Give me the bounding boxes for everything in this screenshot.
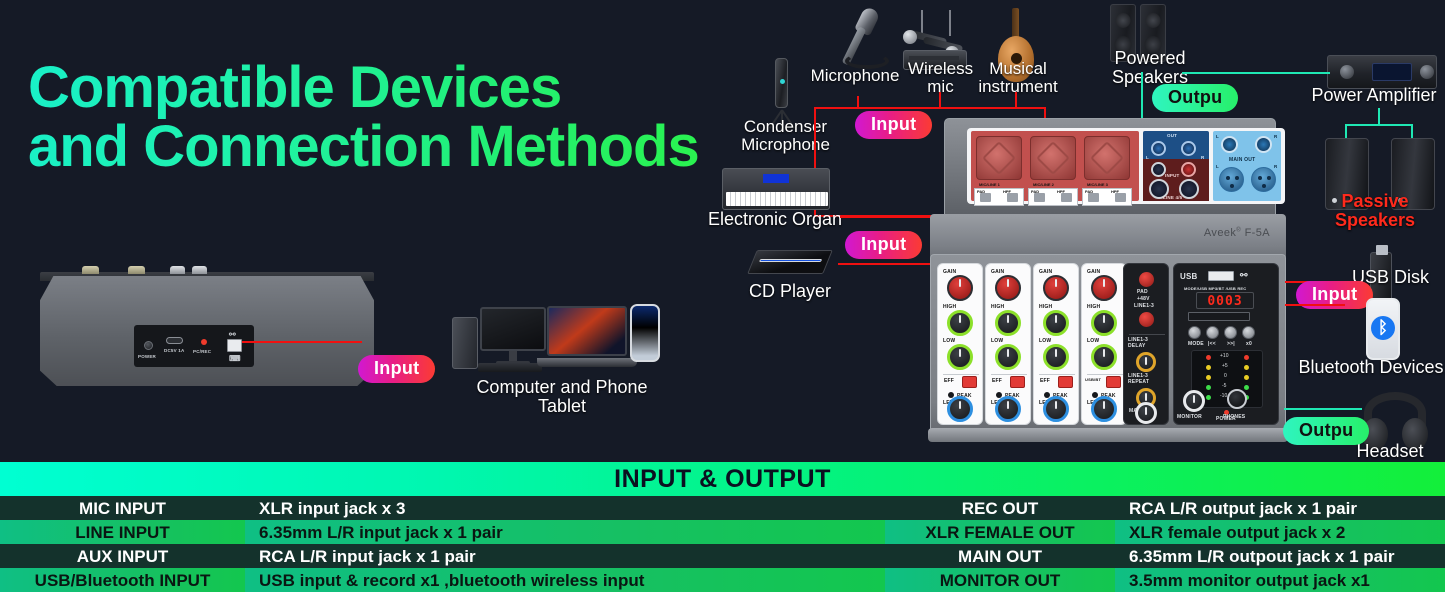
high-label-2: HIGH [991, 304, 1004, 310]
high-eq-knob-3[interactable] [1043, 310, 1069, 336]
pc-tower [452, 317, 478, 369]
low-label-2: LOW [991, 338, 1003, 344]
usb-lcd-display: 0003 [1196, 292, 1254, 309]
badge-input-top: Input [855, 111, 932, 139]
aux-io-group: OUT L R INPUT LINE 4/5 [1143, 131, 1209, 201]
row-2-out-val: 6.35mm L/R outpout jack x 1 pair [1115, 544, 1445, 568]
main-out-group: L R MAIN OUT L R [1213, 131, 1281, 201]
power-amplifier-label: Power Amplifier [1306, 86, 1442, 105]
meter-led-l-minus10 [1206, 395, 1211, 400]
low-eq-knob-4[interactable] [1091, 344, 1117, 370]
divider-4 [1087, 374, 1123, 375]
xlr-r-label: R [1274, 164, 1277, 169]
badge-input-line: Input [845, 231, 922, 259]
channel-strip-2: GAIN HIGH LOW EFF PEAK LEVEL [985, 263, 1031, 425]
condenser-mic-led [780, 79, 785, 84]
brand-name: Aveek [1204, 227, 1236, 239]
dc-power-port[interactable] [166, 337, 183, 344]
meter-led-l-plus10 [1206, 355, 1211, 360]
mode-button[interactable] [1188, 326, 1201, 339]
hpf-label-2: HPF [1057, 189, 1065, 194]
delay-knob[interactable] [1136, 352, 1156, 372]
connector-bluetooth [1285, 304, 1345, 306]
meter-led-r-minus5 [1244, 385, 1249, 390]
rec-out-jack-l[interactable] [1151, 141, 1166, 156]
table-body: MIC INPUT XLR input jack x 3 REC OUT RCA… [0, 496, 1445, 592]
out-label: OUT [1167, 133, 1177, 138]
row-3-out-key: MONITOR OUT [885, 568, 1115, 592]
connector-headset [1284, 408, 1362, 410]
meter-led-l-minus5 [1206, 385, 1211, 390]
meter-led-r-plus10 [1244, 355, 1249, 360]
amp-knob-right [1420, 65, 1434, 79]
pad-label-2: PAD [1031, 189, 1039, 194]
pad-phantom-label: PAD [1137, 289, 1148, 295]
phantom-led [1139, 272, 1154, 287]
meter-label-minus5: -5 [1222, 383, 1226, 389]
cd-player-label: CD Player [742, 282, 838, 301]
mixer-rear-panel: MIC/LINE 1 MIC/LINE 2 MIC/LINE 3 [967, 128, 1285, 204]
meter-label-zero: 0 [1224, 373, 1227, 379]
connector-line-rear-usb [242, 341, 362, 343]
mode-strip-label: MODE/USB MP3/BT /USB REC [1184, 286, 1246, 291]
meter-led-l-zero [1206, 375, 1211, 380]
xlr-combo-jack-3[interactable] [1084, 136, 1130, 180]
brand-mark: Aveek® F-5A [1204, 227, 1270, 239]
low-label-3: LOW [1039, 338, 1051, 344]
line45-label: LINE 4/5 [1163, 195, 1182, 200]
usb-bt-switch[interactable] [1106, 376, 1121, 388]
play-btn-label: x0 [1246, 341, 1252, 347]
gain-knob-4[interactable] [1091, 275, 1117, 301]
input-label: INPUT [1165, 173, 1180, 178]
next-btn-label: >>| [1227, 341, 1235, 347]
row-1-out-val: XLR female output jack x 2 [1115, 520, 1445, 544]
next-button[interactable] [1224, 326, 1237, 339]
xlr-female-out-r[interactable] [1251, 167, 1276, 192]
passive-speakers-label: Passive Speakers [1300, 192, 1445, 231]
mixer-rear-view-illustration: POWER DC5V 1A PC/REC ⚯ ⌨ [28, 262, 388, 394]
level-knob-2[interactable] [995, 396, 1021, 422]
monitor-knob[interactable] [1183, 390, 1205, 412]
badge-output-headset: Outpu [1283, 417, 1369, 445]
eff-switch-3[interactable] [1058, 376, 1073, 388]
mixer-rear-section: MIC/LINE 1 MIC/LINE 2 MIC/LINE 3 [944, 118, 1276, 218]
mixer-control-surface: GAIN HIGH LOW EFF PEAK LEVEL GAIN HIGH [930, 254, 1286, 440]
power-label: POWER [138, 354, 156, 359]
hpf-label-1: HPF [1003, 189, 1011, 194]
condenser-mic-body [775, 58, 788, 108]
mixer-front-foot [928, 428, 1288, 442]
mic-line-3-label: MIC/LINE 3 [1087, 182, 1108, 187]
low-eq-knob-3[interactable] [1043, 344, 1069, 370]
meter-led-r-zero [1244, 375, 1249, 380]
row-2-out-key: MAIN OUT [885, 544, 1115, 568]
model-name: F-5A [1245, 227, 1270, 239]
media-button-row [1188, 326, 1255, 339]
bluetooth-icon: ᛒ [1371, 316, 1395, 340]
gain-label-4: GAIN [1087, 269, 1100, 275]
repeat-label: LINE1-3 REPEAT [1128, 374, 1149, 385]
gain-label-2: GAIN [991, 269, 1004, 275]
amp-knob-left [1340, 65, 1354, 79]
usb-drive-connector [1376, 245, 1388, 255]
pad-switch-1[interactable] [980, 193, 991, 202]
phantom-voltage-label: +48V [1137, 296, 1150, 302]
mic-line-1-label: MIC/LINE 1 [979, 182, 1000, 187]
connector-amp-line [1182, 72, 1330, 74]
laptop-screen [547, 306, 627, 356]
monitor-knob-label: MONITOR [1177, 414, 1202, 420]
headset-label: Headset [1340, 442, 1440, 461]
pad-label-3: PAD [1085, 189, 1093, 194]
rear-jack-2 [128, 266, 145, 274]
eff-label-2: EFF [992, 378, 1002, 384]
divider-2 [991, 374, 1027, 375]
level-knob-3[interactable] [1043, 396, 1069, 422]
eff-switch-1[interactable] [962, 376, 977, 388]
infographic-canvas: Compatible Devices and Connection Method… [0, 0, 1445, 592]
usb-logo-strip [1188, 312, 1250, 321]
pad-label-1: PAD [977, 189, 985, 194]
badge-output-speakers: Outpu [1152, 84, 1238, 112]
musical-instrument-label: Musical instrument [970, 60, 1066, 97]
usb-icon: ⚯ [229, 330, 236, 339]
io-spec-table: INPUT & OUTPUT MIC INPUT XLR input jack … [0, 462, 1445, 592]
organ-display [763, 174, 789, 183]
high-label-4: HIGH [1087, 304, 1100, 310]
main-knob[interactable] [1135, 402, 1157, 424]
connector-bus-top-inputs [814, 107, 1046, 109]
channel-strip-4: GAIN HIGH LOW USB/BT PEAK LEVEL [1081, 263, 1127, 425]
cd-player [747, 250, 833, 274]
phones-jack-label: PHONES [1223, 414, 1245, 420]
aux-input-jack-r[interactable] [1181, 162, 1196, 177]
rec-label: PC/REC [193, 349, 211, 354]
laptop-base [537, 358, 637, 367]
antenna-right [949, 10, 951, 36]
channel-strip-3: GAIN HIGH LOW EFF PEAK LEVEL [1033, 263, 1079, 425]
delay-label: LINE1-3 DELAY [1128, 338, 1148, 349]
phones-jack[interactable] [1227, 389, 1247, 409]
low-label-4: LOW [1087, 338, 1099, 344]
usb-connector-icon: ⚯ [1240, 270, 1248, 281]
pad-switch-3[interactable] [1088, 193, 1099, 202]
eff-label-3: EFF [1040, 378, 1050, 384]
line13-label: LINE1-3 [1134, 303, 1154, 309]
eff-switch-2[interactable] [1010, 376, 1025, 388]
phantom-button[interactable] [1139, 312, 1154, 327]
powered-speakers-label: Powered Speakers [1080, 49, 1220, 88]
connector-amp-split [1345, 124, 1413, 126]
cd-player-strip [759, 259, 822, 262]
badge-input-computer: Input [358, 355, 435, 383]
electronic-organ [722, 168, 830, 210]
row-3-out-val: 3.5mm monitor output jack x1 [1115, 568, 1445, 592]
meter-label-plus5: +5 [1222, 363, 1228, 369]
row-0-in-val: XLR input jack x 3 [245, 496, 885, 520]
main-l-label: L [1216, 134, 1219, 139]
xlr-combo-jack-1[interactable] [976, 136, 1022, 180]
xlr-female-out-l[interactable] [1219, 167, 1244, 192]
low-eq-knob-1[interactable] [947, 344, 973, 370]
eff-label-1: EFF [944, 378, 954, 384]
xlr-combo-jack-2[interactable] [1030, 136, 1076, 180]
row-1-in-val: 6.35mm L/R input jack x 1 pair [245, 520, 885, 544]
play-button[interactable] [1242, 326, 1255, 339]
mic-line-xlr-group: MIC/LINE 1 MIC/LINE 2 MIC/LINE 3 [971, 131, 1139, 201]
bluetooth-phone: ᛒ [1366, 298, 1400, 360]
high-eq-knob-1[interactable] [947, 310, 973, 336]
rear-jack-3 [170, 266, 185, 274]
high-label-3: HIGH [1039, 304, 1052, 310]
xlr-l-label: L [1216, 164, 1219, 169]
hpf-switch-1[interactable] [1007, 193, 1018, 202]
main-out-trs-r[interactable] [1255, 136, 1272, 153]
gain-label-1: GAIN [943, 269, 956, 275]
row-2-in-key: AUX INPUT [0, 544, 245, 568]
microphone-label: Microphone [800, 67, 910, 85]
electronic-organ-label: Electronic Organ [706, 210, 844, 229]
usb-divider [1129, 334, 1165, 335]
rec-led [201, 339, 207, 345]
connector-stub-instrument [1015, 92, 1017, 108]
mode-btn-label: MODE [1188, 341, 1204, 347]
rec-out-jack-r[interactable] [1181, 141, 1196, 156]
prev-button[interactable] [1206, 326, 1219, 339]
high-label-1: HIGH [943, 304, 956, 310]
main-out-trs-l[interactable] [1221, 136, 1238, 153]
row-2-in-val: RCA L/R input jack x 1 pair [245, 544, 885, 568]
mic-line-2-label: MIC/LINE 2 [1033, 182, 1054, 187]
brand-registered: ® [1236, 227, 1241, 233]
gain-label-3: GAIN [1039, 269, 1052, 275]
table-heading: INPUT & OUTPUT [0, 462, 1445, 496]
usb-section-label: USB [1180, 272, 1198, 281]
high-eq-knob-2[interactable] [995, 310, 1021, 336]
phone-body [630, 304, 660, 362]
meter-led-r-plus5 [1244, 365, 1249, 370]
power-button[interactable] [144, 341, 153, 350]
row-1-out-key: XLR FEMALE OUT [885, 520, 1115, 544]
high-eq-knob-4[interactable] [1091, 310, 1117, 336]
gain-knob-3[interactable] [1043, 275, 1069, 301]
channel-strip-1: GAIN HIGH LOW EFF PEAK LEVEL [937, 263, 983, 425]
connector-stub-microphone [857, 96, 859, 108]
low-eq-knob-2[interactable] [995, 344, 1021, 370]
computer-and-phone-label: Computer and Phone Tablet [452, 378, 672, 417]
meter-led-l-plus5 [1206, 365, 1211, 370]
rear-io-panel: POWER DC5V 1A PC/REC ⚯ ⌨ [134, 325, 254, 367]
page-title: Compatible Devices and Connection Method… [28, 58, 699, 176]
aux-input-jack-l[interactable] [1151, 162, 1166, 177]
row-0-out-key: REC OUT [885, 496, 1115, 520]
bluetooth-devices-label: Bluetooth Devices [1296, 358, 1445, 377]
divider-1 [943, 374, 979, 375]
low-label-1: LOW [943, 338, 955, 344]
row-0-in-key: MIC INPUT [0, 496, 245, 520]
hpf-switch-3[interactable] [1115, 193, 1126, 202]
rear-jack-1 [82, 266, 99, 274]
pc-keyboard [478, 363, 542, 372]
condenser-microphone-label: Condenser Microphone [728, 118, 843, 155]
gain-knob-1[interactable] [947, 275, 973, 301]
level-knob-1[interactable] [947, 396, 973, 422]
hpf-label-3: HPF [1111, 189, 1119, 194]
gain-knob-2[interactable] [995, 275, 1021, 301]
amp-display [1372, 63, 1412, 81]
main-out-label: MAIN OUT [1229, 157, 1255, 163]
usb-bt-label: USB/BT [1085, 377, 1101, 382]
rear-jack-4 [192, 266, 207, 274]
usb-b-port[interactable] [227, 339, 242, 352]
pad-switch-2[interactable] [1034, 193, 1045, 202]
hpf-switch-2[interactable] [1061, 193, 1072, 202]
prev-btn-label: |<< [1208, 341, 1216, 347]
organ-keys [726, 192, 828, 206]
divider-3 [1039, 374, 1075, 375]
line45-input-group: INPUT LINE 4/5 [1143, 159, 1209, 201]
row-3-in-key: USB/Bluetooth INPUT [0, 568, 245, 592]
level-knob-4[interactable] [1091, 396, 1117, 422]
connector-stub-wireless [939, 92, 941, 108]
usb-b-icon: ⌨ [229, 354, 241, 363]
phantom-effects-column: PAD +48V LINE1-3 LINE1-3 DELAY LINE1-3 R… [1123, 263, 1169, 425]
wireless-mic-head-1 [903, 30, 917, 44]
pc-monitor [480, 307, 546, 351]
usb-a-port[interactable] [1208, 271, 1234, 281]
monitor-stand [509, 351, 517, 361]
row-0-out-val: RCA L/R output jack x 1 pair [1115, 496, 1445, 520]
main-r-label: R [1274, 134, 1277, 139]
dc-label: DC5V 1A [164, 348, 184, 353]
meter-label-plus10: +10 [1220, 353, 1228, 359]
power-amplifier [1327, 55, 1437, 89]
row-1-in-key: LINE INPUT [0, 520, 245, 544]
row-3-in-val: USB input & record x1 ,bluetooth wireles… [245, 568, 885, 592]
